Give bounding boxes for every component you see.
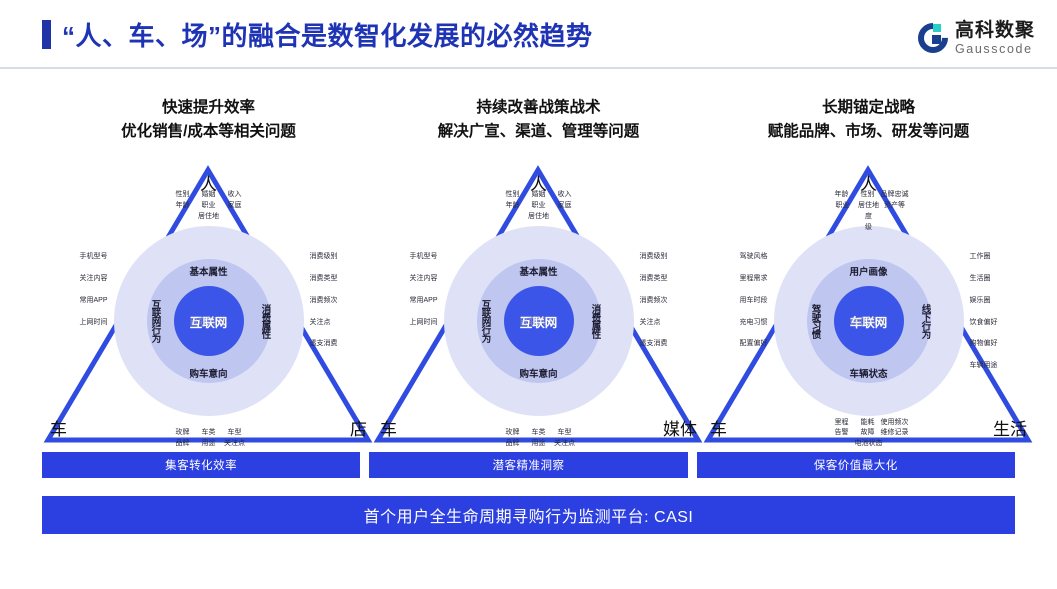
satellite-cell: 维修记录	[881, 428, 909, 439]
satellite-cell: 电池状态	[855, 439, 883, 450]
satellite-row: 里程能耗使用频次	[829, 418, 909, 429]
satellite-item: 生活圈	[970, 274, 998, 285]
caption-bar-row: 集客转化效率 潜客精准洞察 保客价值最大化	[42, 452, 1015, 478]
column-2-heading: 持续改善战策战术 解决广宣、渠道、管理等问题	[372, 96, 705, 144]
satellite-cell: 居住地	[196, 212, 222, 223]
column-3: 长期锚定战略 赋能品牌、市场、研发等问题 人 车 生活 车联网 用户画像 车辆状…	[702, 96, 1035, 456]
satellite-row: 度	[829, 212, 909, 223]
satellite-bottom-3: 里程能耗使用频次告警故障维修记录电池状态	[829, 418, 909, 451]
ring-top-label-1: 基本属性	[189, 264, 227, 278]
satellite-item: 消费类型	[640, 274, 668, 285]
corner-left-label-2: 车	[380, 415, 397, 440]
satellite-cell: 品牌忠诚	[881, 190, 909, 201]
satellite-cell: 用途	[196, 439, 222, 450]
satellite-item: 里程需求	[740, 274, 768, 285]
satellite-top-2: 性别婚姻收入年龄职业家庭居住地	[500, 190, 578, 223]
satellite-item: 透支消费	[640, 339, 668, 350]
satellite-cell: 性别	[500, 190, 526, 201]
ring-bottom-label-2: 购车意向	[519, 366, 557, 380]
core-label-2: 互联网	[520, 312, 558, 331]
satellite-item: 关注点	[310, 318, 338, 329]
satellite-cell: 关注点	[222, 439, 248, 450]
satellite-bottom-2: 玫牌车类车型品牌用途关注点	[500, 428, 578, 450]
satellite-cell: 玫牌	[170, 428, 196, 439]
satellite-item: 手机型号	[79, 252, 107, 263]
column-3-triangle: 人 车 生活 车联网 用户画像 车辆状态 驾驶习惯 线下行为 自联网 车 年龄性…	[702, 156, 1035, 446]
satellite-cell: 年龄	[500, 201, 526, 212]
satellite-cell: 用途	[526, 439, 552, 450]
ring-right-label-2: 消费属性	[588, 304, 602, 338]
circle-diagram-3: 车联网 用户画像 车辆状态 驾驶习惯 线下行为 自联网 车 年龄性别品牌忠诚职业…	[774, 226, 964, 416]
satellite-cell: 度	[856, 212, 882, 223]
ring-top-label-2: 基本属性	[519, 264, 557, 278]
satellite-item: 用车时段	[740, 296, 768, 307]
header-divider	[0, 67, 1057, 69]
satellite-cell: 职业	[830, 201, 856, 212]
title-accent-bar	[42, 20, 51, 49]
satellite-cell: 居住地	[856, 201, 882, 212]
satellite-right-1: 消费级别消费类型消费频次关注点透支消费	[310, 252, 338, 361]
circle-diagram-2: 互联网 基本属性 购车意向 互联网行为 消费属性 自联网 车 性别婚姻收入年龄职…	[444, 226, 634, 416]
satellite-row: 性别婚姻收入	[500, 190, 578, 201]
ring-top-label-3: 用户画像	[849, 264, 887, 278]
satellite-bottom-1: 玫牌车类车型品牌用途关注点	[170, 428, 248, 450]
satellite-cell: 居住地	[526, 212, 552, 223]
column-2: 持续改善战策战术 解决广宣、渠道、管理等问题 人 车 媒体 互联网 基本属性 购…	[372, 96, 705, 456]
satellite-cell: 资产等	[882, 201, 908, 212]
corner-left-label-3: 车	[710, 415, 727, 440]
logo-english-name: Gausscode	[955, 43, 1035, 56]
satellite-item: 消费频次	[640, 296, 668, 307]
satellite-item: 饮食偏好	[970, 318, 998, 329]
satellite-item: 手机型号	[409, 252, 437, 263]
caption-bar-2: 潜客精准洞察	[369, 452, 687, 478]
satellite-item: 消费级别	[310, 252, 338, 263]
ring-left-label-2: 互联网行为	[478, 300, 492, 343]
satellite-cell: 家庭	[222, 201, 248, 212]
core-label-1: 互联网	[190, 312, 228, 331]
slide-header: “人、车、场”的融合是数智化发展的必然趋势 高科数聚 Gausscode	[0, 0, 1057, 68]
ring-bottom-label-1: 购车意向	[189, 366, 227, 380]
satellite-row: 年龄性别品牌忠诚	[829, 190, 909, 201]
satellite-row: 职业居住地资产等	[829, 201, 909, 212]
column-1-triangle: 人 车 店 互联网 基本属性 购车意向 互联网行为 消费属性 自联网 车 性别婚…	[42, 156, 375, 446]
satellite-cell: 车类	[196, 428, 222, 439]
satellite-item: 车辆用途	[970, 361, 998, 372]
satellite-left-3: 驾驶风格里程需求用车时段充电习惯配置偏好	[740, 252, 768, 361]
ring-left-label-3: 驾驶习惯	[808, 304, 822, 338]
ring-left-label-1: 互联网行为	[148, 300, 162, 343]
column-2-heading-line2: 解决广宣、渠道、管理等问题	[372, 120, 705, 144]
caption-bar-1: 集客转化效率	[42, 452, 360, 478]
satellite-cell: 里程	[829, 418, 855, 429]
satellite-row: 电池状态	[829, 439, 909, 450]
satellite-cell: 车型	[222, 428, 248, 439]
logo-chinese-name: 高科数聚	[955, 21, 1035, 40]
satellite-item: 充电习惯	[740, 318, 768, 329]
column-3-heading: 长期锚定战略 赋能品牌、市场、研发等问题	[702, 96, 1035, 144]
column-3-heading-line2: 赋能品牌、市场、研发等问题	[702, 120, 1035, 144]
satellite-row: 玫牌车类车型	[500, 428, 578, 439]
column-1-heading-line2: 优化销售/成本等相关问题	[42, 120, 375, 144]
satellite-cell: 能耗	[855, 418, 881, 429]
satellite-item: 常用APP	[79, 296, 107, 307]
satellite-item: 消费类型	[310, 274, 338, 285]
column-1-heading-line1: 快速提升效率	[42, 96, 375, 120]
satellite-item: 购物偏好	[970, 339, 998, 350]
satellite-cell: 职业	[196, 201, 222, 212]
satellite-top-3: 年龄性别品牌忠诚职业居住地资产等度级	[829, 190, 909, 233]
column-2-triangle: 人 车 媒体 互联网 基本属性 购车意向 互联网行为 消费属性 自联网 车 性别…	[372, 156, 705, 446]
corner-right-label-1: 店	[350, 415, 367, 440]
satellite-cell: 故障	[855, 428, 881, 439]
brand-logo: 高科数聚 Gausscode	[918, 17, 1035, 59]
column-1: 快速提升效率 优化销售/成本等相关问题 人 车 店 互联网 基本属性 购车意向 …	[42, 96, 375, 456]
circle-diagram-1: 互联网 基本属性 购车意向 互联网行为 消费属性 自联网 车 性别婚姻收入年龄职…	[114, 226, 304, 416]
satellite-cell: 品牌	[500, 439, 526, 450]
satellite-item: 消费级别	[640, 252, 668, 263]
satellite-item: 驾驶风格	[740, 252, 768, 263]
footer-banner: 首个用户全生命周期寻购行为监测平台: CASI	[42, 496, 1015, 534]
satellite-cell: 车类	[526, 428, 552, 439]
satellite-item: 娱乐圈	[970, 296, 998, 307]
satellite-cell: 告警	[829, 428, 855, 439]
satellite-cell: 玫牌	[500, 428, 526, 439]
satellite-item: 上网时间	[79, 318, 107, 329]
satellite-row: 年龄职业家庭	[170, 201, 248, 212]
satellite-cell: 收入	[552, 190, 578, 201]
satellite-cell: 婚姻	[196, 190, 222, 201]
core-circle-1: 互联网	[174, 286, 244, 356]
satellite-item: 配置偏好	[740, 339, 768, 350]
satellite-item: 关注内容	[409, 274, 437, 285]
satellite-right-2: 消费级别消费类型消费频次关注点透支消费	[640, 252, 668, 361]
ring-bottom-label-3: 车辆状态	[849, 366, 887, 380]
satellite-item: 关注点	[640, 318, 668, 329]
satellite-cell: 家庭	[552, 201, 578, 212]
satellite-row: 告警故障维修记录	[829, 428, 909, 439]
satellite-cell: 关注点	[552, 439, 578, 450]
satellite-cell: 品牌	[170, 439, 196, 450]
satellite-left-2: 手机型号关注内容常用APP上网时间	[409, 252, 437, 339]
ring-right-label-1: 消费属性	[258, 304, 272, 338]
satellite-row: 性别婚姻收入	[170, 190, 248, 201]
slide-root: “人、车、场”的融合是数智化发展的必然趋势 高科数聚 Gausscode 快速提…	[0, 0, 1057, 589]
corner-right-label-3: 生活	[993, 415, 1027, 440]
satellite-left-1: 手机型号关注内容常用APP上网时间	[79, 252, 107, 339]
satellite-cell: 收入	[222, 190, 248, 201]
satellite-cell: 使用频次	[881, 418, 909, 429]
core-circle-2: 互联网	[504, 286, 574, 356]
satellite-cell: 车型	[552, 428, 578, 439]
column-1-heading: 快速提升效率 优化销售/成本等相关问题	[42, 96, 375, 144]
caption-bar-3: 保客价值最大化	[697, 452, 1015, 478]
column-2-heading-line1: 持续改善战策战术	[372, 96, 705, 120]
satellite-item: 上网时间	[409, 318, 437, 329]
satellite-item: 工作圈	[970, 252, 998, 263]
satellite-cell: 婚姻	[526, 190, 552, 201]
satellite-row: 品牌用途关注点	[500, 439, 578, 450]
satellite-row: 级	[829, 223, 909, 234]
corner-left-label-1: 车	[50, 415, 67, 440]
satellite-cell: 性别	[855, 190, 881, 201]
satellite-item: 透支消费	[310, 339, 338, 350]
core-circle-3: 车联网	[834, 286, 904, 356]
satellite-cell: 职业	[526, 201, 552, 212]
satellite-row: 品牌用途关注点	[170, 439, 248, 450]
logo-glyph-icon	[918, 23, 948, 53]
satellite-row: 居住地	[170, 212, 248, 223]
column-3-heading-line1: 长期锚定战略	[702, 96, 1035, 120]
satellite-item: 常用APP	[409, 296, 437, 307]
satellite-cell: 年龄	[829, 190, 855, 201]
satellite-cell: 年龄	[170, 201, 196, 212]
satellite-item: 消费频次	[310, 296, 338, 307]
satellite-cell: 级	[856, 223, 882, 234]
satellite-row: 玫牌车类车型	[170, 428, 248, 439]
core-label-3: 车联网	[850, 312, 888, 331]
satellite-row: 年龄职业家庭	[500, 201, 578, 212]
corner-right-label-2: 媒体	[663, 415, 697, 440]
ring-right-label-3: 线下行为	[918, 304, 932, 338]
page-title: “人、车、场”的融合是数智化发展的必然趋势	[62, 16, 593, 53]
satellite-cell: 性别	[170, 190, 196, 201]
satellite-top-1: 性别婚姻收入年龄职业家庭居住地	[170, 190, 248, 223]
satellite-right-3: 工作圈生活圈娱乐圈饮食偏好购物偏好车辆用途	[970, 252, 998, 383]
satellite-item: 关注内容	[79, 274, 107, 285]
satellite-row: 居住地	[500, 212, 578, 223]
